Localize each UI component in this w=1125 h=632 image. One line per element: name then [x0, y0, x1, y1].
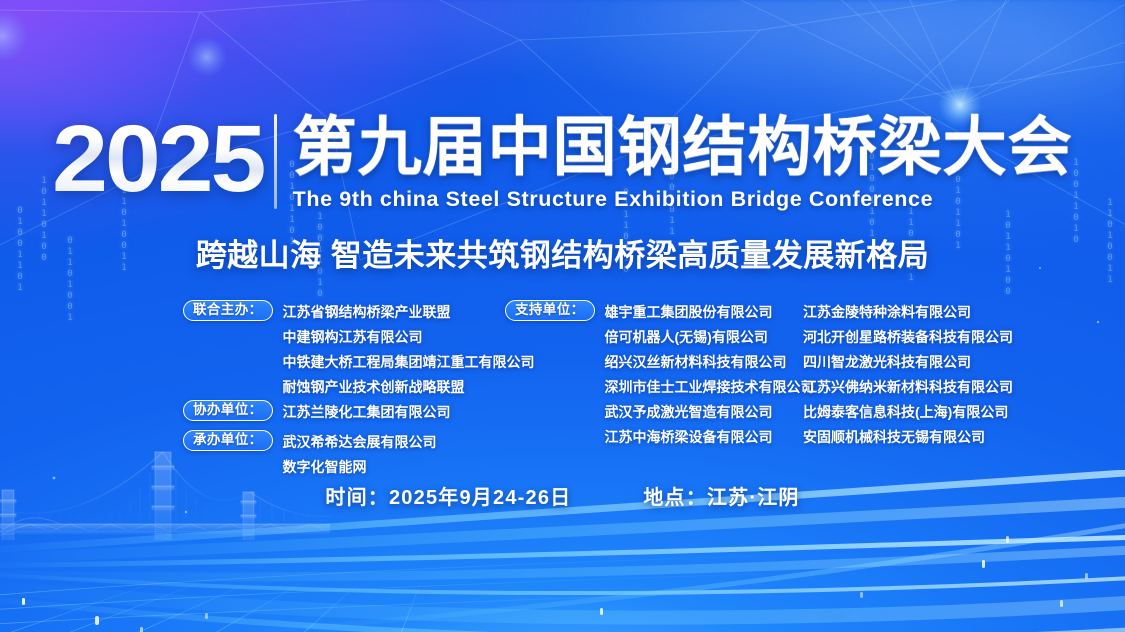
conference-banner: 01001101 10110100 01101001 11010011 0010…: [0, 0, 1125, 632]
title-row: 2025 第九届中国钢结构桥梁大会 The 9th china Steel St…: [0, 112, 1125, 212]
slogan: 跨越山海 智造未来共筑钢结构桥梁高质量发展新格局: [0, 236, 1125, 276]
list-item: 雄宇重工集团股份有限公司: [605, 300, 815, 325]
undertaker-list: 武汉希希达会展有限公司 数字化智能网: [283, 430, 437, 480]
list-item: 耐蚀钢产业技术创新战略联盟: [283, 375, 535, 400]
supporters-label: 支持单位：: [505, 300, 595, 321]
title-block: 第九届中国钢结构桥梁大会 The 9th china Steel Structu…: [293, 112, 1073, 212]
list-item: 安固顺机械科技无锡有限公司: [803, 425, 1013, 450]
undertaker-group: 承办单位： 武汉希希达会展有限公司 数字化智能网: [183, 430, 437, 480]
event-date: 时间：2025年9月24-26日: [325, 483, 571, 513]
list-item: 河北开创星路桥装备科技有限公司: [803, 325, 1013, 350]
list-item: 绍兴汉丝新材料科技有限公司: [605, 350, 815, 375]
list-item: 倍可机器人(无锡)有限公司: [605, 325, 815, 350]
co-organizer-group: 协办单位： 江苏兰陵化工集团有限公司: [183, 400, 451, 425]
list-item: 江苏中海桥梁设备有限公司: [605, 425, 815, 450]
page-subtitle-english: The 9th china Steel Structure Exhibition…: [293, 186, 1073, 212]
list-item: 江苏省钢结构桥梁产业联盟: [283, 300, 535, 325]
list-item: 江苏兴佛纳米新材料科技有限公司: [803, 375, 1013, 400]
year-2025: 2025: [52, 112, 272, 207]
list-item: 江苏金陵特种涂料有限公司: [803, 300, 1013, 325]
supporters-group: 支持单位： 雄宇重工集团股份有限公司 倍可机器人(无锡)有限公司 绍兴汉丝新材料…: [505, 300, 815, 450]
list-item: 数字化智能网: [283, 455, 437, 480]
list-item: 武汉予成激光智造有限公司: [605, 400, 815, 425]
event-footer: 时间：2025年9月24-26日 地点：江苏·江阴: [0, 483, 1125, 513]
list-item: 武汉希希达会展有限公司: [283, 430, 437, 455]
list-item: 江苏兰陵化工集团有限公司: [283, 400, 451, 425]
co-hosts-list: 江苏省钢结构桥梁产业联盟 中建钢构江苏有限公司 中铁建大桥工程局集团靖江重工有限…: [283, 300, 535, 400]
banner-content: 2025 第九届中国钢结构桥梁大会 The 9th china Steel St…: [0, 0, 1125, 632]
list-item: 中建钢构江苏有限公司: [283, 325, 535, 350]
co-organizer-label: 协办单位：: [183, 400, 273, 421]
event-location: 地点：江苏·江阴: [643, 483, 799, 513]
undertaker-label: 承办单位：: [183, 430, 273, 451]
organizer-section: 联合主办： 江苏省钢结构桥梁产业联盟 中建钢构江苏有限公司 中铁建大桥工程局集团…: [183, 300, 1063, 450]
list-item: 深圳市佳士工业焊接技术有限公司: [605, 375, 815, 400]
page-title: 第九届中国钢结构桥梁大会: [293, 112, 1073, 182]
supporters-column-two-list: 江苏金陵特种涂料有限公司 河北开创星路桥装备科技有限公司 四川智龙激光科技有限公…: [803, 300, 1013, 450]
co-hosts-group: 联合主办： 江苏省钢结构桥梁产业联盟 中建钢构江苏有限公司 中铁建大桥工程局集团…: [183, 300, 535, 400]
title-divider: [274, 114, 277, 209]
list-item: 四川智龙激光科技有限公司: [803, 350, 1013, 375]
list-item: 比姆泰客信息科技(上海)有限公司: [803, 400, 1013, 425]
list-item: 中铁建大桥工程局集团靖江重工有限公司: [283, 350, 535, 375]
supporters-list: 雄宇重工集团股份有限公司 倍可机器人(无锡)有限公司 绍兴汉丝新材料科技有限公司…: [605, 300, 815, 450]
supporters-column-two: 江苏金陵特种涂料有限公司 河北开创星路桥装备科技有限公司 四川智龙激光科技有限公…: [803, 300, 1013, 450]
co-organizer-list: 江苏兰陵化工集团有限公司: [283, 400, 451, 425]
co-hosts-label: 联合主办：: [183, 300, 273, 321]
